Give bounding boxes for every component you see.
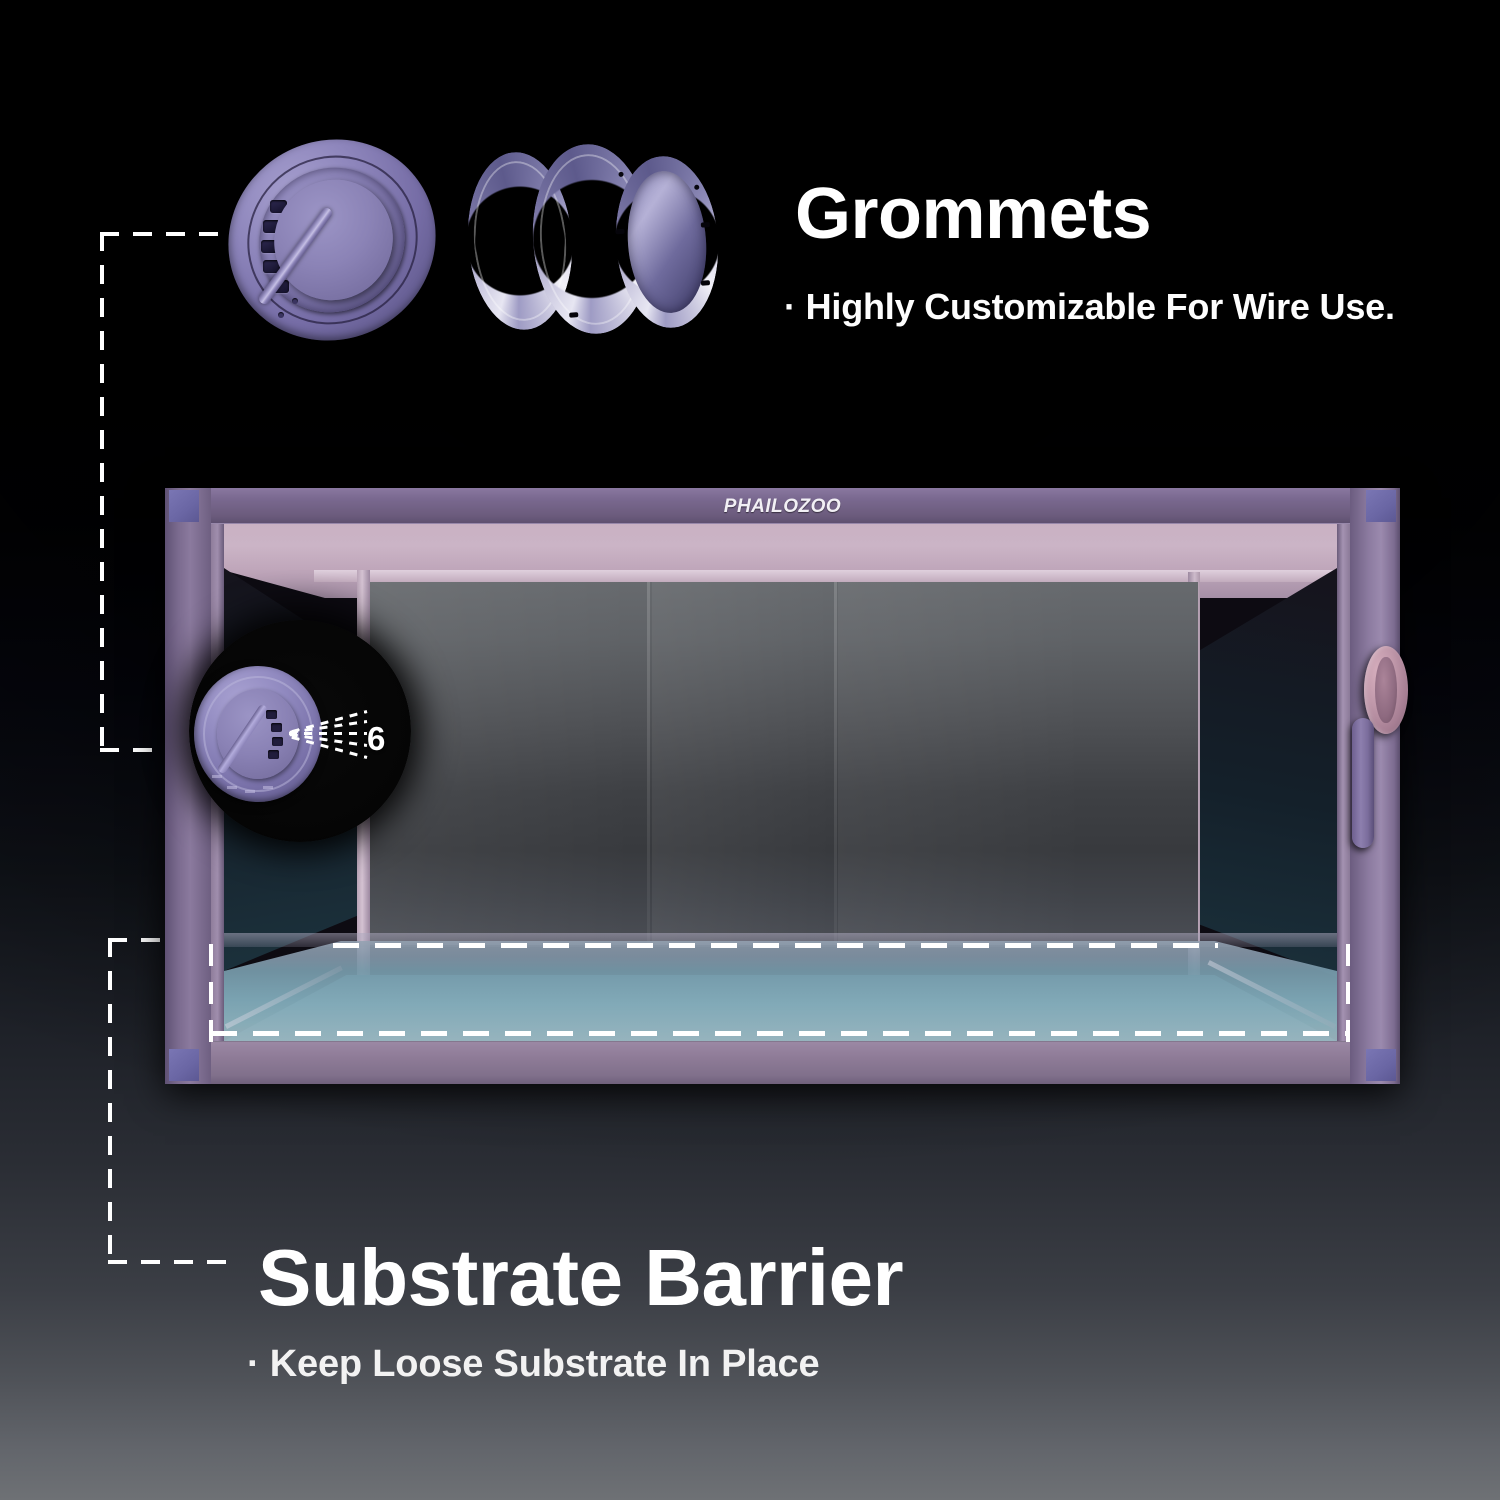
feature-graphic-canvas: Grommets · Highly Customizable For Wire … (0, 0, 1500, 1500)
ring-notch (700, 280, 709, 286)
ring-notch (569, 312, 578, 318)
grommet-tick (212, 775, 222, 778)
grommet-vent-slot (272, 737, 283, 746)
barrier-guide-bottom (211, 1031, 1348, 1036)
grommet-tick (227, 786, 237, 789)
grommet-tick (245, 790, 255, 793)
corner-accent-top-right (1366, 490, 1396, 522)
grommets-title: Grommets (795, 178, 1151, 250)
corner-accent-bottom-right (1366, 1049, 1396, 1081)
grommet-vent-slot (268, 750, 279, 759)
ring-screw-hole (694, 185, 699, 190)
barrier-guide-top (333, 943, 1218, 948)
glass-seam (647, 582, 650, 945)
barrier-guide-right (1346, 944, 1350, 1044)
grommet-cap-assembled (228, 140, 436, 340)
brand-logo: PHAILOZOO (724, 496, 841, 518)
grommet-pin-hole (278, 312, 284, 318)
glass-glare (838, 582, 1086, 945)
bracket-bottom-stub-2 (108, 1260, 230, 1264)
ring-notch (700, 222, 709, 228)
back-glass-panel (370, 582, 1198, 945)
glass-glare (370, 582, 635, 945)
bottom-rail (165, 1041, 1400, 1084)
barrier-guide-left (209, 944, 213, 1044)
corner-accent-top-left (169, 490, 199, 522)
grommet-vent-slot (271, 723, 282, 732)
substrate-barrier-title: Substrate Barrier (258, 1238, 903, 1318)
glass-seam (834, 582, 837, 945)
right-side-panel (1187, 568, 1337, 977)
bracket-vertical-2 (108, 938, 112, 1263)
grommet-exploded-parts (468, 142, 718, 342)
bracket-top-stub (100, 232, 248, 236)
grommet-detail-zoom: 6 (189, 620, 411, 842)
substrate-barrier-subtitle: · Keep Loose Substrate In Place (247, 1343, 819, 1386)
bracket-vertical (100, 232, 104, 752)
grommet-tick (263, 786, 273, 789)
door-handle-bar[interactable] (1352, 718, 1374, 848)
grommets-subtitle: · Highly Customizable For Wire Use. (784, 286, 1395, 328)
grommet-vent-slot (266, 710, 277, 719)
corner-accent-bottom-left (169, 1049, 199, 1081)
glass-glare (652, 582, 834, 945)
grommet-count-label: 6 (367, 720, 385, 758)
